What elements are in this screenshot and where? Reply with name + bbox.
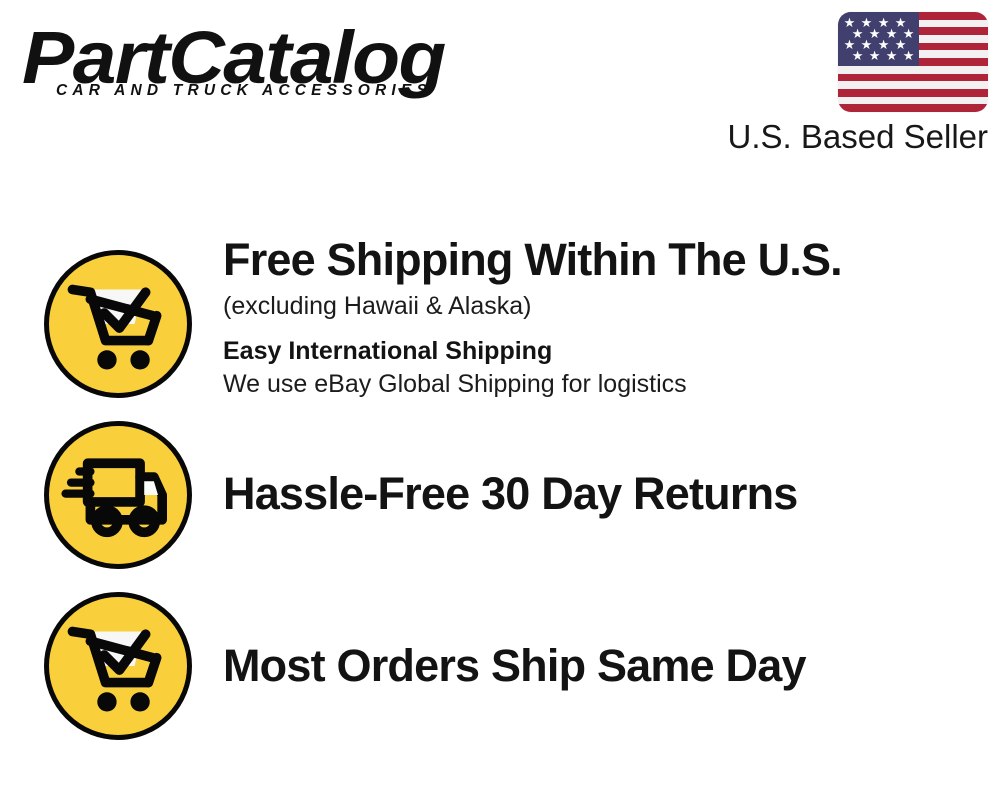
shopping-cart-check-icon (44, 592, 192, 740)
brand-logo: PartCatalog (22, 20, 492, 115)
feature-title: Hassle-Free 30 Day Returns (223, 468, 797, 520)
us-based-seller-label: U.S. Based Seller (716, 118, 988, 156)
us-flag-icon: ★ ★ ★ ★ ★ ★ ★ ★ ★ ★ ★ ★ ★ ★ ★ ★ (838, 12, 988, 112)
feature-text-free-shipping: Free Shipping Within The U.S. (excluding… (223, 234, 842, 401)
flag-stripe (838, 74, 988, 82)
flag-canton: ★ ★ ★ ★ ★ ★ ★ ★ ★ ★ ★ ★ ★ ★ ★ ★ (838, 12, 919, 66)
feature-text-same-day: Most Orders Ship Same Day (223, 640, 806, 692)
feature-text-returns: Hassle-Free 30 Day Returns (223, 468, 797, 520)
feature-title: Most Orders Ship Same Day (223, 640, 806, 692)
flag-stripe (838, 89, 988, 97)
feature-secondary-subtitle: We use eBay Global Shipping for logistic… (223, 368, 842, 401)
shipping-info-banner: PartCatalog CAR AND TRUCK ACCESSORIES ★ … (0, 0, 1000, 800)
feature-subtitle: (excluding Hawaii & Alaska) (223, 290, 842, 323)
feature-title: Free Shipping Within The U.S. (223, 234, 842, 286)
delivery-truck-icon (44, 421, 192, 569)
shopping-cart-check-icon (44, 250, 192, 398)
flag-stripe (838, 104, 988, 112)
brand-tagline: CAR AND TRUCK ACCESSORIES (56, 82, 432, 100)
feature-secondary-title: Easy International Shipping (223, 334, 842, 368)
